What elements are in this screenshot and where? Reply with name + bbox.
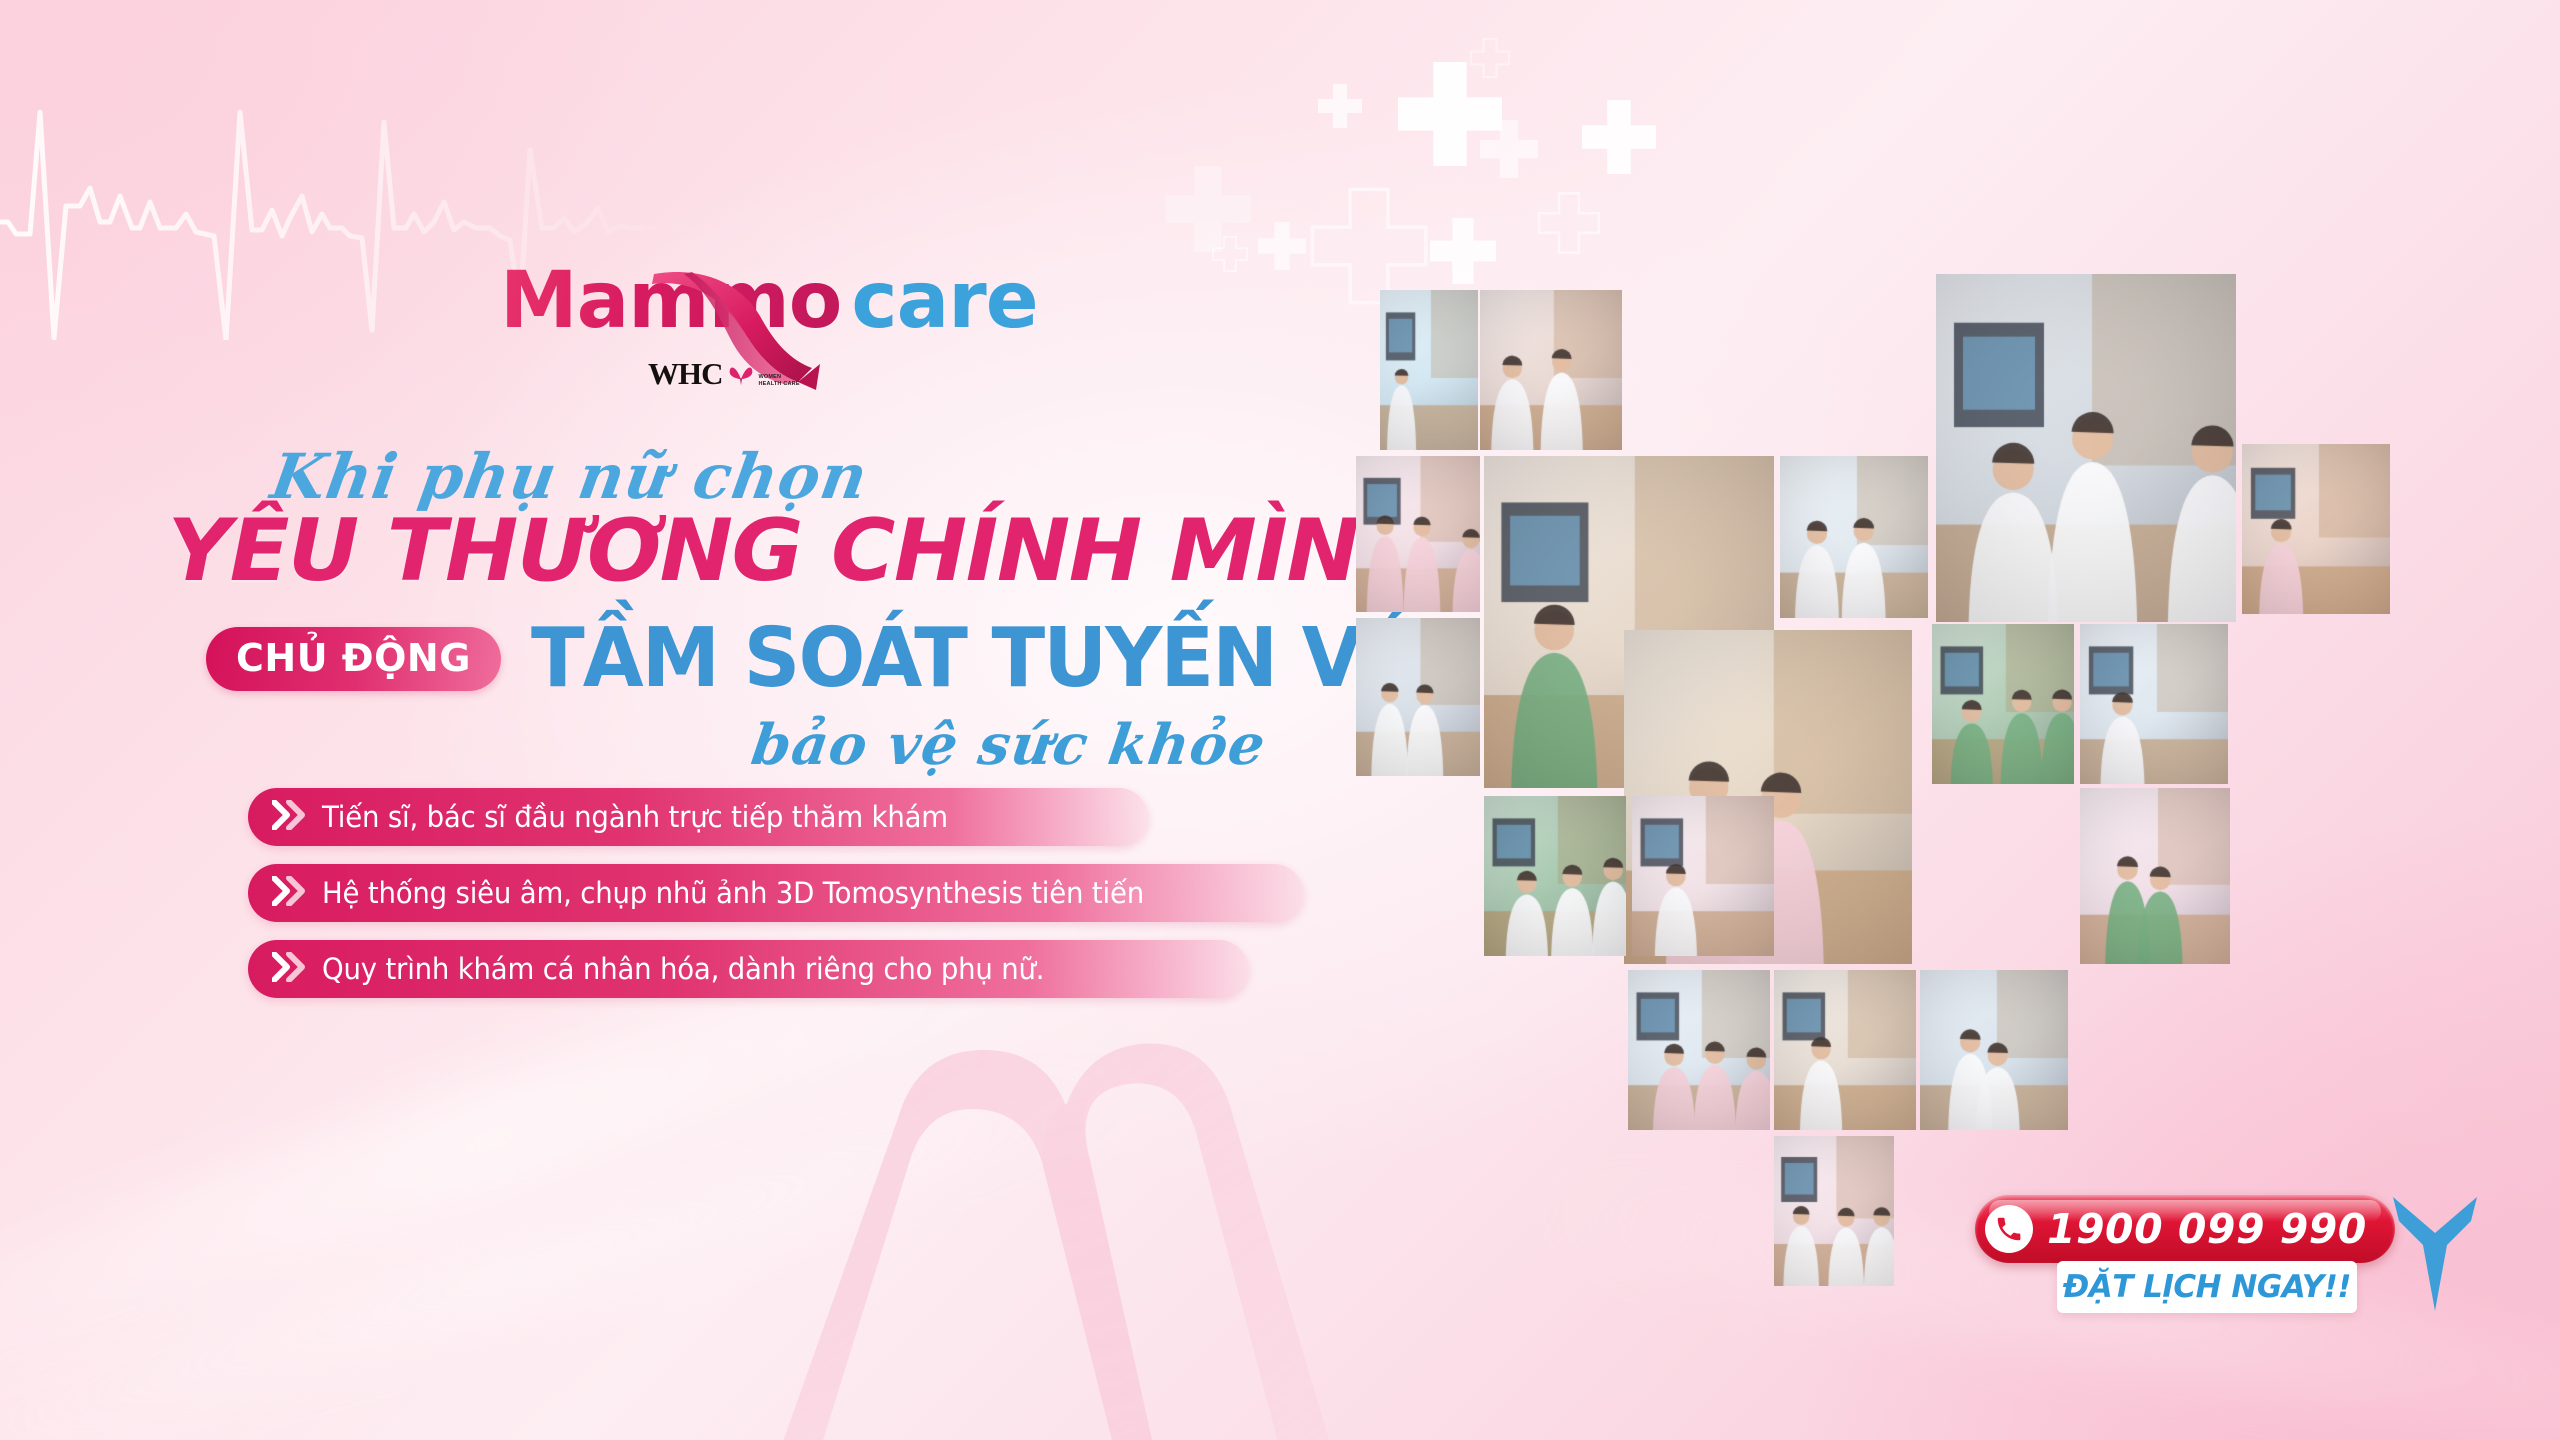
- collage-photo: [1774, 1136, 1894, 1286]
- medical-cross-icon: [1398, 62, 1502, 166]
- photo-collage-heart: [1380, 290, 2450, 1170]
- double-chevron-icon: [272, 876, 306, 911]
- collage-photo: [2242, 444, 2390, 614]
- collage-photo: [1932, 624, 2074, 784]
- light-streak-decor: [0, 1027, 1183, 1440]
- collage-photo: [1920, 970, 2068, 1130]
- collage-photo: [2080, 788, 2230, 964]
- medical-cross-icon: [1470, 38, 1510, 78]
- brand-logo[interactable]: Mammocare: [500, 262, 980, 392]
- headline-primary: YÊU THƯƠNG CHÍNH MÌNH: [168, 508, 1431, 594]
- collage-photo: [1936, 274, 2236, 622]
- double-chevron-icon: [272, 800, 306, 835]
- medical-cross-icon: [1430, 218, 1496, 284]
- collage-photo: [1356, 456, 1480, 612]
- collage-photo: [1628, 970, 1770, 1130]
- medical-cross-icon: [1538, 192, 1600, 254]
- headline-secondary: TẦM SOÁT TUYẾN VÚ: [531, 618, 1423, 700]
- phone-cta-button[interactable]: 1900 099 990: [1975, 1195, 2395, 1263]
- collage-photo: [1356, 618, 1480, 776]
- logo-mammo-text: Mammo: [500, 256, 841, 346]
- collage-photo: [1632, 796, 1774, 956]
- whc-sublogo: WHC WOMEN HEALTH CARE: [648, 358, 800, 389]
- booking-label: ĐẶT LỊCH NGAY!!: [2063, 1269, 2351, 1305]
- medical-cross-icon: [1318, 84, 1362, 128]
- double-chevron-icon: [272, 952, 306, 987]
- collage-photo: [1780, 456, 1928, 618]
- phone-handset-icon: [1985, 1205, 2033, 1253]
- medical-cross-icon: [1258, 222, 1306, 270]
- collage-photo: [1484, 796, 1626, 956]
- promotional-banner: Mammocare: [0, 0, 2560, 1440]
- list-item[interactable]: Tiến sĩ, bác sĩ đầu ngành trực tiếp thăm…: [248, 788, 1148, 846]
- cta-block: 1900 099 990 ĐẶT LỊCH NGAY!!: [1975, 1195, 2515, 1340]
- collage-photo: [1480, 290, 1622, 450]
- headline-script-bottom: bảo vệ sức khỏe: [747, 712, 1270, 778]
- arrow-down-icon: [2375, 1187, 2495, 1317]
- medical-cross-icon: [1165, 166, 1251, 252]
- medical-cross-icon: [1582, 100, 1656, 174]
- feature-list: Tiến sĩ, bác sĩ đầu ngành trực tiếp thăm…: [248, 788, 1303, 998]
- list-item[interactable]: Quy trình khám cá nhân hóa, dành riêng c…: [248, 940, 1248, 998]
- list-item-label: Hệ thống siêu âm, chụp nhũ ảnh 3D Tomosy…: [322, 876, 1144, 910]
- logo-care-text: care: [851, 256, 1037, 346]
- medical-cross-icon: [1480, 120, 1538, 178]
- collage-photo: [2080, 624, 2228, 784]
- list-item[interactable]: Hệ thống siêu âm, chụp nhũ ảnh 3D Tomosy…: [248, 864, 1303, 922]
- phone-number-label: 1900 099 990: [2047, 1209, 2367, 1250]
- medical-cross-icon: [1212, 236, 1248, 272]
- list-item-label: Quy trình khám cá nhân hóa, dành riêng c…: [322, 952, 1044, 986]
- collage-photo: [1774, 970, 1916, 1130]
- list-item-label: Tiến sĩ, bác sĩ đầu ngành trực tiếp thăm…: [322, 800, 948, 834]
- booking-cta-button[interactable]: ĐẶT LỊCH NGAY!!: [2057, 1261, 2357, 1313]
- logo-wordmark: Mammocare: [500, 262, 980, 340]
- collage-photo: [1380, 290, 1478, 450]
- whc-butterfly-icon: [728, 362, 754, 388]
- medical-cross-icon: [1310, 187, 1428, 305]
- headline-secondary-row: CHỦ ĐỘNG TẦM SOÁT TUYẾN VÚ: [206, 618, 1460, 700]
- chu-dong-badge: CHỦ ĐỘNG: [206, 627, 501, 691]
- whc-tagline: WOMEN HEALTH CARE: [759, 374, 800, 387]
- whc-text: WHC: [648, 358, 723, 389]
